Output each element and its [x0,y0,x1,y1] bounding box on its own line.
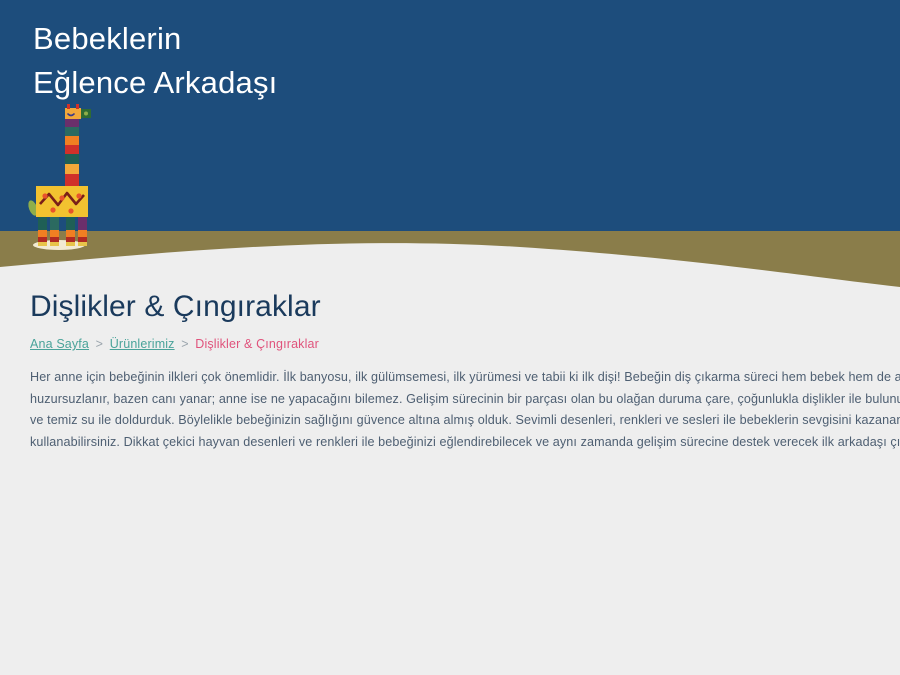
hero-title: Bebeklerin Eğlence Arkadaşı [33,17,277,105]
page-root: Bebeklerin Eğlence Arkadaşı [0,0,900,675]
breadcrumb: Ana Sayfa > Ürünlerimiz > Dişlikler & Çı… [30,337,900,351]
breadcrumb-item-products[interactable]: Ürünlerimiz [110,337,175,351]
page-title: Dişlikler & Çıngıraklar [30,290,900,323]
breadcrumb-item-home[interactable]: Ana Sayfa [30,337,89,351]
breadcrumb-item-current: Dişlikler & Çıngıraklar [195,337,319,351]
hero-banner: Bebeklerin Eğlence Arkadaşı [0,0,900,300]
giraffe-mascot-icon [22,104,108,250]
product-category-description: Her anne için bebeğinin ilkleri çok önem… [30,367,900,454]
hero-wave-divider [0,225,900,300]
main-content: Dişlikler & Çıngıraklar Ana Sayfa > Ürün… [0,290,900,454]
breadcrumb-separator: > [181,337,188,351]
breadcrumb-separator: > [96,337,103,351]
